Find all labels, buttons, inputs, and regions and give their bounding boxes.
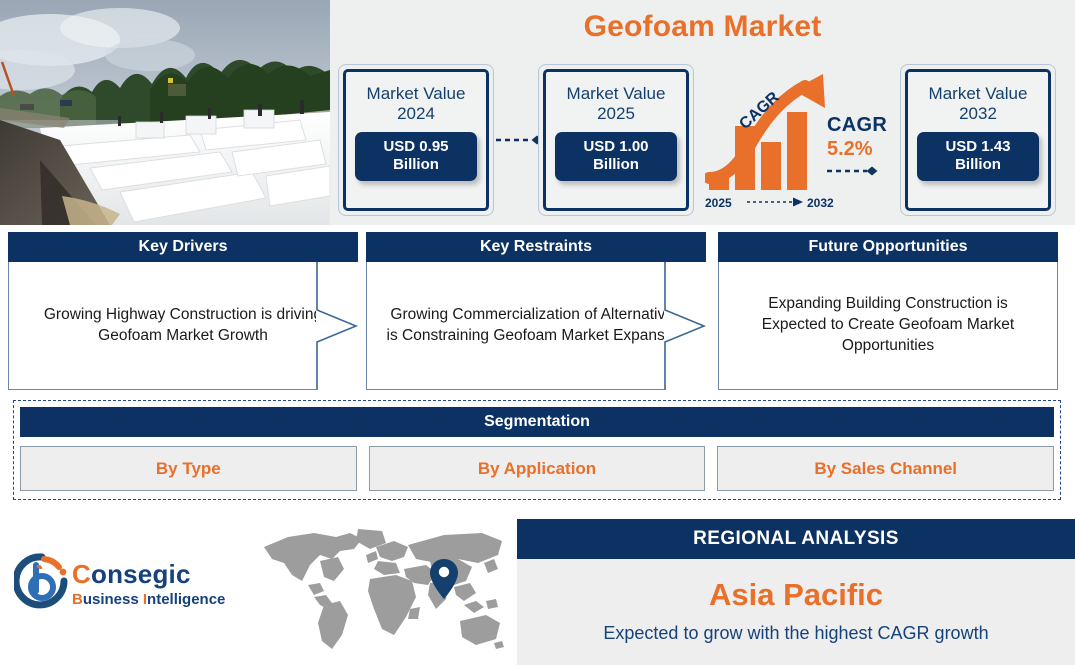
panel-text: Growing Highway Construction is driving … [25,305,341,347]
market-value-badge: USD 1.00 Billion [555,132,677,181]
regional-analysis-panel: REGIONAL ANALYSIS Asia Pacific Expected … [517,519,1075,665]
consegic-logo[interactable]: Consegic Business Intelligence [8,547,248,627]
market-value-card-inner: Market Value 2024 USD 0.95 Billion [343,69,489,211]
cagr-block: CAGR CAGR 5.2% 2025 2032 [705,66,895,216]
logo-company-name: Consegic [72,559,225,590]
panel-key-drivers: Key Drivers Growing Highway Construction… [8,232,358,390]
regional-analysis-subtitle: Expected to grow with the highest CAGR g… [517,623,1075,644]
market-value-card-inner: Market Value 2032 USD 1.43 Billion [905,69,1051,211]
panel-title: Future Opportunities [718,232,1058,262]
page-title: Geofoam Market [330,10,1075,44]
market-value-badge: USD 0.95 Billion [355,132,477,181]
chevron-right-icon [664,262,706,390]
segmentation-item-label: By Sales Channel [814,459,957,479]
market-value-card-2025: Market Value 2025 USD 1.00 Billion [538,64,694,216]
regional-analysis-region: Asia Pacific [517,577,1075,613]
connector-dashed-1 [496,132,544,142]
market-value-card-inner: Market Value 2025 USD 1.00 Billion [543,69,689,211]
cagr-readout: CAGR 5.2% [827,114,887,182]
regional-analysis-header: REGIONAL ANALYSIS [517,519,1075,559]
market-value-card-label: Market Value 2025 [567,84,666,123]
panel-text: Growing Commercialization of Alternative… [383,305,689,347]
panel-future-opportunities: Future Opportunities Expanding Building … [718,232,1058,390]
consegic-logo-text: Consegic Business Intelligence [72,559,225,608]
consegic-logo-mark-icon [14,553,70,614]
chevron-right-icon [316,262,358,390]
growth-chart-icon: CAGR [705,68,830,198]
market-value-card-2032: Market Value 2032 USD 1.43 Billion [900,64,1056,216]
market-value-badge: USD 1.43 Billion [917,132,1039,181]
panel-title: Key Restraints [366,232,706,262]
panel-body: Expanding Building Construction is Expec… [718,262,1058,390]
segmentation-item-label: By Application [478,459,596,479]
logo-tagline: Business Intelligence [72,591,225,608]
market-value-card-2024: Market Value 2024 USD 0.95 Billion [338,64,494,216]
axis-start-year: 2025 [705,196,732,210]
market-value-card-label: Market Value 2024 [367,84,466,123]
footer-row: Consegic Business Intelligence [0,505,1075,660]
connector-dashed-2 [827,165,883,177]
drivers-row: Key Drivers Growing Highway Construction… [0,232,1075,390]
segmentation-item-by-type[interactable]: By Type [20,446,357,491]
header-right: Geofoam Market Market Value 2024 USD 0.9… [330,0,1075,225]
segmentation-item-label: By Type [156,459,221,479]
cagr-value: 5.2% [827,138,887,161]
panel-body: Growing Commercialization of Alternative… [366,262,706,390]
cagr-year-axis: 2025 2032 [705,192,849,212]
axis-end-year: 2032 [807,196,834,210]
panel-text: Expanding Building Construction is Expec… [735,294,1041,357]
segmentation-item-by-application[interactable]: By Application [369,446,706,491]
segmentation-section: Segmentation By Type By Application By S… [13,400,1061,500]
panel-body: Growing Highway Construction is driving … [8,262,358,390]
segmentation-item-by-sales-channel[interactable]: By Sales Channel [717,446,1054,491]
segmentation-box-list: By Type By Application By Sales Channel [20,446,1054,491]
panel-key-restraints: Key Restraints Growing Commercialization… [366,232,706,390]
geofoam-construction-photo [0,0,330,225]
segmentation-title: Segmentation [20,407,1054,437]
market-value-card-label: Market Value 2032 [929,84,1028,123]
cagr-label: CAGR [827,114,887,137]
panel-title: Key Drivers [8,232,358,262]
world-map [258,525,508,655]
header-band: Geofoam Market Market Value 2024 USD 0.9… [0,0,1075,225]
